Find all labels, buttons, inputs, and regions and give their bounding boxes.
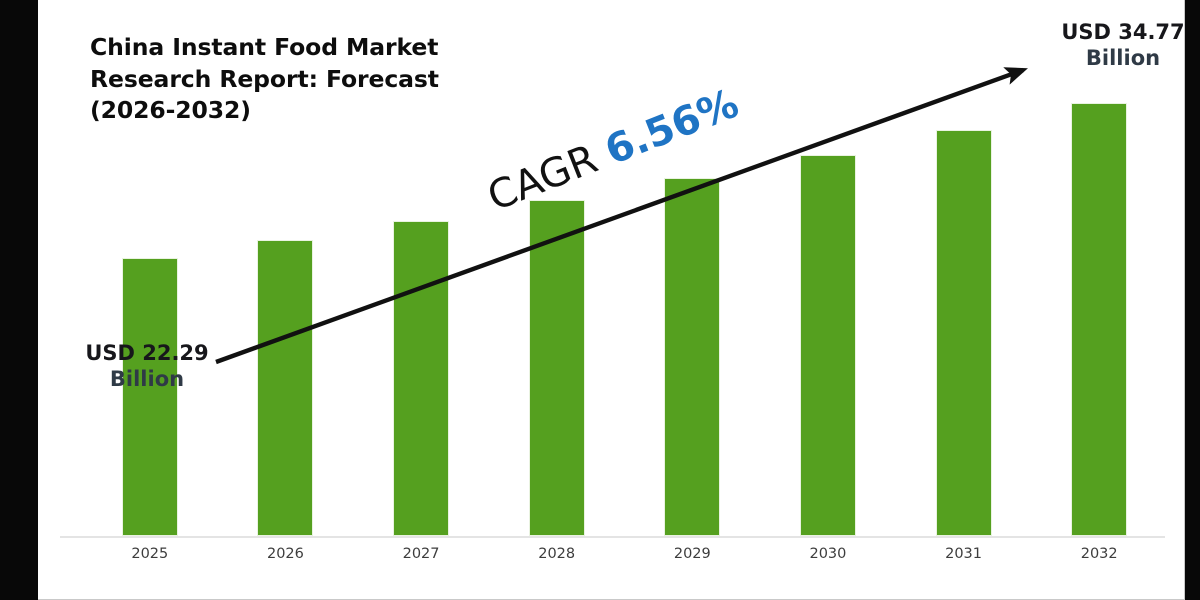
bar-slot: [1071, 0, 1127, 536]
bar-2030[interactable]: [800, 155, 856, 536]
bar-2025[interactable]: [122, 258, 178, 536]
x-tick-2030: 2030: [760, 546, 896, 562]
start-value-amount: USD 22.29: [54, 340, 240, 366]
letterbox-band-right: [1185, 0, 1200, 600]
bar-slot: [800, 0, 856, 536]
start-value-unit: Billion: [54, 366, 240, 392]
x-tick-2025: 2025: [82, 546, 218, 562]
bar-slot: [664, 0, 720, 536]
end-value-callout: USD 34.77 Billion: [1028, 19, 1185, 72]
letterbox-band-left: [0, 0, 38, 600]
x-axis-line: [60, 536, 1165, 538]
start-value-callout: USD 22.29 Billion: [54, 340, 240, 393]
x-tick-2031: 2031: [896, 546, 1032, 562]
x-tick-2026: 2026: [218, 546, 354, 562]
x-tick-2029: 2029: [625, 546, 761, 562]
end-value-amount: USD 34.77: [1028, 19, 1185, 45]
end-value-unit: Billion: [1028, 45, 1185, 71]
x-tick-2028: 2028: [489, 546, 625, 562]
chart-title: China Instant Food Market Research Repor…: [90, 32, 560, 127]
bar-slot: [936, 0, 992, 536]
chart-canvas: China Instant Food Market Research Repor…: [38, 0, 1185, 600]
bar-2027[interactable]: [393, 221, 449, 536]
bar-2029[interactable]: [664, 178, 720, 536]
x-tick-2032: 2032: [1031, 546, 1167, 562]
bar-2026[interactable]: [257, 240, 313, 536]
bar-2031[interactable]: [936, 130, 992, 536]
x-tick-2027: 2027: [353, 546, 489, 562]
chart-figure: China Instant Food Market Research Repor…: [0, 0, 1200, 600]
bar-2028[interactable]: [529, 200, 585, 536]
bar-2032[interactable]: [1071, 103, 1127, 536]
